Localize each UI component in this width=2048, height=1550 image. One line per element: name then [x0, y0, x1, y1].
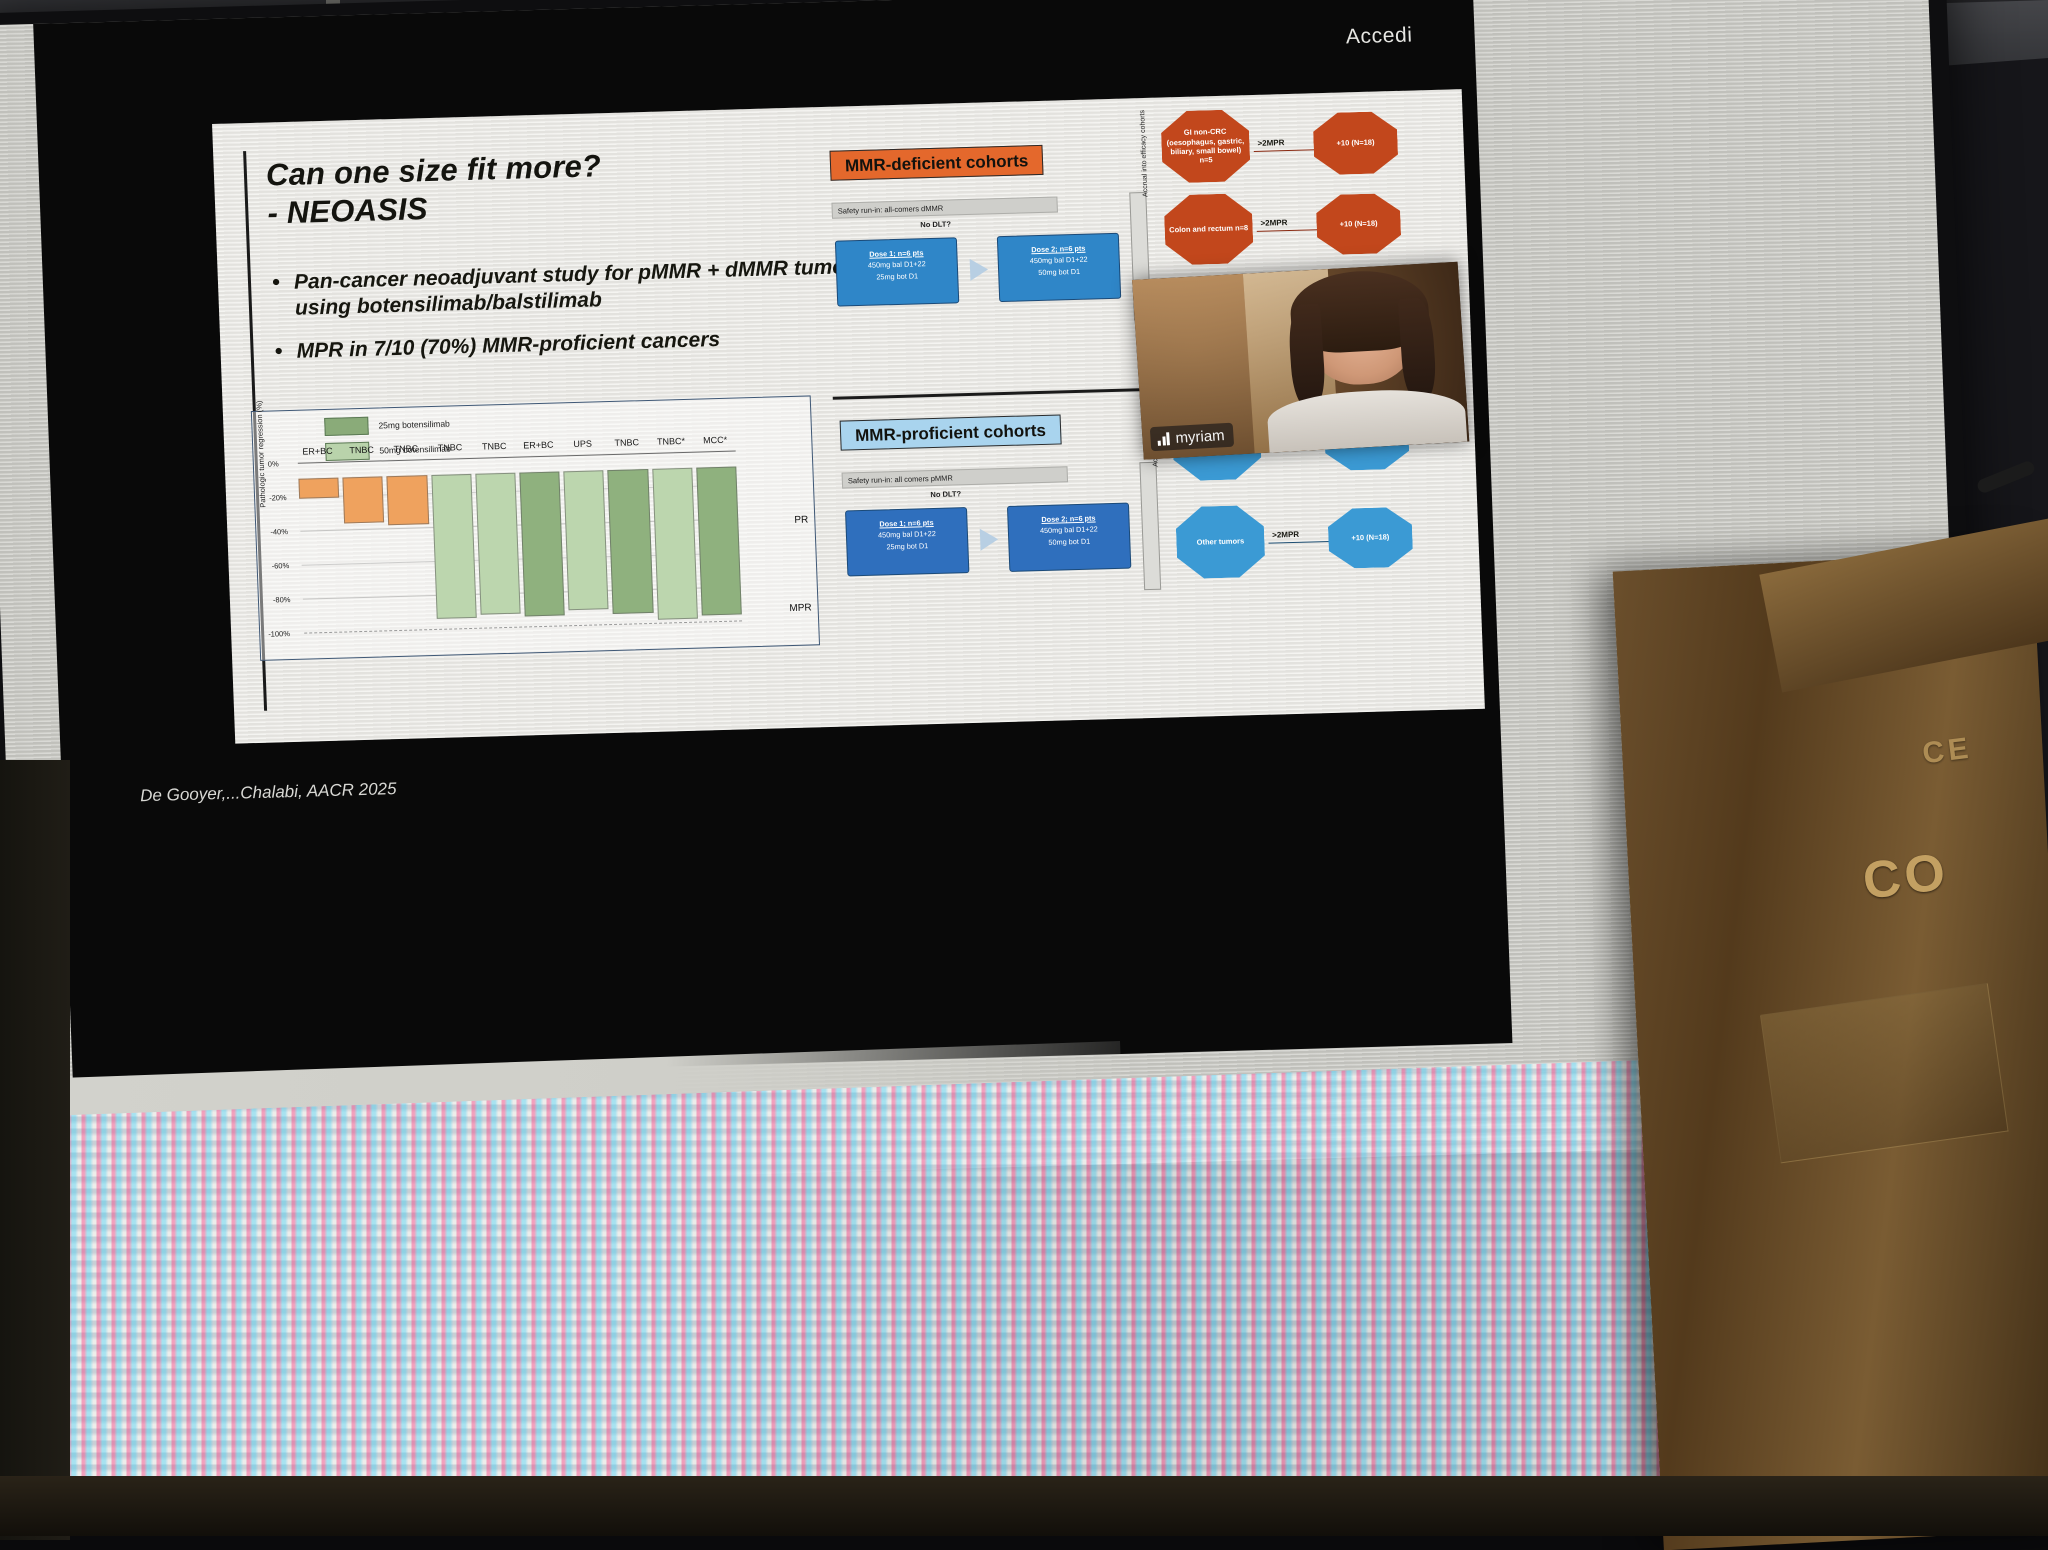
floor: [0, 1476, 2048, 1536]
podium-text-line2: CO: [1860, 842, 1953, 912]
chart-bar-column: [475, 457, 522, 638]
chart-bar: [343, 477, 385, 524]
conference-room-photo: Accedi Can one size fit more? - NEOASIS …: [0, 0, 2048, 1536]
slide-title: Can one size fit more? - NEOASIS: [265, 147, 603, 232]
expansion-octagon-other: +10 (N=18): [1327, 507, 1413, 569]
gate-label: >2MPR: [1257, 138, 1284, 148]
gate-connector: [1254, 149, 1320, 152]
projected-canvas: Accedi Can one size fit more? - NEOASIS …: [33, 0, 1512, 1083]
x-tick-label: TNBC: [607, 437, 648, 448]
y-tick-100: -100%: [268, 629, 290, 639]
podium: CE CO: [1613, 550, 2048, 1550]
waterfall-chart: 25mg botensilimab 50mg botensilimab Path…: [251, 395, 820, 660]
chart-bar: [519, 472, 565, 617]
dose2-box-proficient: Dose 2; n=6 pts450mg bal D1+2250mg bot D…: [1007, 503, 1131, 572]
pr-line-label: PR: [794, 515, 808, 526]
legend-swatch-25mg: [324, 417, 369, 436]
x-tick-label: TNBC*: [651, 436, 692, 447]
gate-label: >2MPR: [1260, 218, 1287, 228]
video-participant-tile[interactable]: myriam: [1132, 262, 1469, 460]
chart-bar: [564, 471, 609, 611]
chart-bar-column: [696, 451, 743, 632]
chart-bar-column: [386, 459, 433, 640]
chart-bar-column: [651, 452, 698, 633]
mpr-line-label: MPR: [789, 602, 812, 614]
chart-bar-column: [519, 455, 566, 636]
cohort-octagon-gi-noncrc: GI non-CRC (oesophagus, gastric, biliary…: [1160, 109, 1251, 183]
chart-bar: [608, 469, 654, 614]
mmr-deficient-header: MMR-deficient cohorts: [829, 145, 1043, 181]
gate-label: >2MPR: [1272, 530, 1299, 540]
chart-plot-area: [298, 451, 743, 643]
chart-bar-column: [430, 458, 477, 639]
chart-bar: [652, 468, 698, 620]
cohort-octagon-other: Other tumors: [1175, 505, 1266, 579]
chart-bar-column: [607, 453, 654, 634]
x-tick-label: TNBC: [430, 442, 471, 453]
mmr-proficient-header: MMR-proficient cohorts: [840, 414, 1062, 450]
participant-name: myriam: [1175, 427, 1225, 447]
podium-text-line1: CE: [1921, 731, 1974, 771]
x-tick-label: TNBC: [474, 441, 515, 452]
chart-bar: [298, 478, 339, 499]
legend-entry: 25mg botensilimab: [324, 415, 450, 436]
chart-bar-column: [563, 454, 610, 635]
no-dlt-proficient: No DLT?: [930, 489, 961, 499]
no-dlt-deficient: No DLT?: [920, 219, 951, 229]
chart-bars: [298, 451, 743, 643]
bullet-item: Pan-cancer neoadjuvant study for pMMR + …: [270, 253, 892, 323]
brand-watermark: Accedi: [1345, 23, 1413, 49]
signal-bars-icon: [1157, 432, 1170, 446]
arrow-right-icon: [980, 528, 999, 550]
chart-bar: [696, 467, 742, 615]
dose2-box-deficient: Dose 2; n=6 pts450mg bal D1+2250mg bot D…: [997, 233, 1121, 302]
accrual-bar-proficient: Accrual into efficacy cohorts: [1139, 462, 1161, 590]
chart-bar-column: [298, 462, 345, 643]
y-tick-80: -80%: [273, 595, 291, 604]
y-tick-20: -20%: [269, 493, 287, 502]
x-tick-label: ER+BC: [297, 446, 338, 457]
y-tick-40: -40%: [270, 527, 288, 536]
podium-plate: [1760, 983, 2009, 1164]
chart-bar: [431, 474, 477, 619]
x-tick-label: TNBC: [386, 443, 427, 454]
chart-bar: [475, 473, 520, 615]
avatar-hair-side: [1287, 304, 1327, 408]
chart-bar-column: [342, 460, 389, 641]
slide-citation: De Gooyer,...Chalabi, AACR 2025: [140, 779, 397, 806]
gate-connector: [1268, 541, 1334, 544]
x-tick-label: MCC*: [695, 435, 736, 446]
arrow-right-icon: [970, 258, 989, 280]
dose1-box-deficient: Dose 1; n=6 pts450mg bal D1+2225mg bot D…: [835, 237, 959, 306]
x-tick-label: UPS: [562, 438, 603, 449]
safety-run-in-deficient: Safety run-in: all-comers dMMR: [831, 196, 1058, 218]
gate-connector: [1257, 229, 1323, 232]
y-tick-60: -60%: [271, 561, 289, 570]
dose1-box-proficient: Dose 1; n=6 pts450mg bal D1+2225mg bot D…: [845, 507, 969, 576]
bullet-item: MPR in 7/10 (70%) MMR-proficient cancers: [272, 322, 893, 366]
expansion-octagon-colon-rectum: +10 (N=18): [1315, 193, 1401, 255]
participant-name-badge: myriam: [1150, 423, 1235, 452]
expansion-octagon-gi-noncrc: +10 (N=18): [1312, 111, 1398, 175]
x-tick-label: ER+BC: [518, 439, 559, 450]
legend-label-25mg: 25mg botensilimab: [378, 419, 450, 431]
y-tick-0: 0%: [268, 459, 279, 468]
left-wall: [0, 760, 70, 1540]
slide-bullet-list: Pan-cancer neoadjuvant study for pMMR + …: [270, 253, 894, 382]
participant-avatar: [1283, 278, 1444, 452]
x-tick-label: TNBC: [341, 444, 382, 455]
safety-run-in-proficient: Safety run-in: all comers pMMR: [842, 466, 1069, 488]
accrual-label: Accrual into efficacy cohorts: [1139, 110, 1149, 197]
cohort-octagon-colon-rectum: Colon and rectum n=8: [1163, 193, 1254, 265]
avatar-hair-side: [1398, 298, 1438, 402]
chart-bar: [387, 476, 429, 526]
y-axis-label: Pathologic tumor regression (%): [254, 401, 267, 508]
